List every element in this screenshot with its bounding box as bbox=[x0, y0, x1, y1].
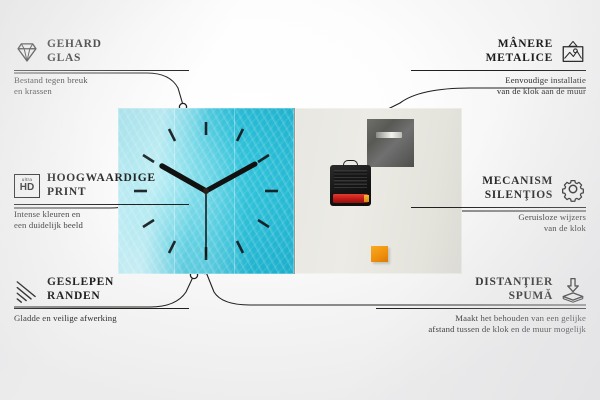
feature-title: DISTANŢIERSPUMĂ bbox=[475, 276, 553, 303]
feature-description: Gladde en veilige afwerking bbox=[14, 309, 189, 324]
feature-distantier-spuma: DISTANŢIERSPUMĂ Maakt het behouden van e… bbox=[376, 276, 586, 335]
battery bbox=[333, 194, 368, 203]
feature-hoogwaardige-print: ultra HD HOOGWAARDIGEPRINT Intense kleur… bbox=[14, 172, 189, 231]
foam-spacer bbox=[371, 246, 388, 262]
metal-hanger bbox=[367, 119, 414, 167]
feature-mecanism-silentios: MECANISMSILENŢIOS Geruisloze wijzersvan … bbox=[411, 175, 586, 234]
feature-title: HOOGWAARDIGEPRINT bbox=[47, 172, 156, 199]
clock-center-cap bbox=[203, 188, 209, 194]
beveled-edges-icon bbox=[14, 277, 40, 303]
feature-description: Maakt het behouden van een gelijkeafstan… bbox=[376, 309, 586, 335]
feature-description: Geruisloze wijzersvan de klok bbox=[411, 208, 586, 234]
diamond-icon bbox=[14, 39, 40, 65]
feature-gehard-glas: GEHARDGLAS Bestand tegen breuken krassen bbox=[14, 38, 189, 97]
feature-description: Intense kleuren eneen duidelijk beeld bbox=[14, 205, 189, 231]
framed-picture-icon bbox=[560, 39, 586, 65]
minute-hand bbox=[206, 164, 255, 191]
feature-title: GESLEPENRANDEN bbox=[47, 276, 114, 303]
spacer-arrow-icon bbox=[560, 277, 586, 303]
feature-geslepen-randen: GESLEPENRANDEN Gladde en veilige afwerki… bbox=[14, 276, 189, 324]
feature-title: MECANISMSILENŢIOS bbox=[482, 175, 553, 202]
gear-icon bbox=[560, 176, 586, 202]
quartz-mechanism bbox=[330, 165, 371, 206]
feature-description: Bestand tegen breuken krassen bbox=[14, 71, 189, 97]
feature-title: MÂNEREMETALICE bbox=[486, 38, 553, 65]
feature-title: GEHARDGLAS bbox=[47, 38, 102, 65]
infographic-canvas: GEHARDGLAS Bestand tegen breuken krassen… bbox=[0, 0, 600, 400]
ultra-hd-icon: ultra HD bbox=[14, 174, 40, 198]
feature-description: Eenvoudige installatievan de klok aan de… bbox=[411, 71, 586, 97]
feature-manere-metalice: MÂNEREMETALICE Eenvoudige installatievan… bbox=[411, 38, 586, 97]
